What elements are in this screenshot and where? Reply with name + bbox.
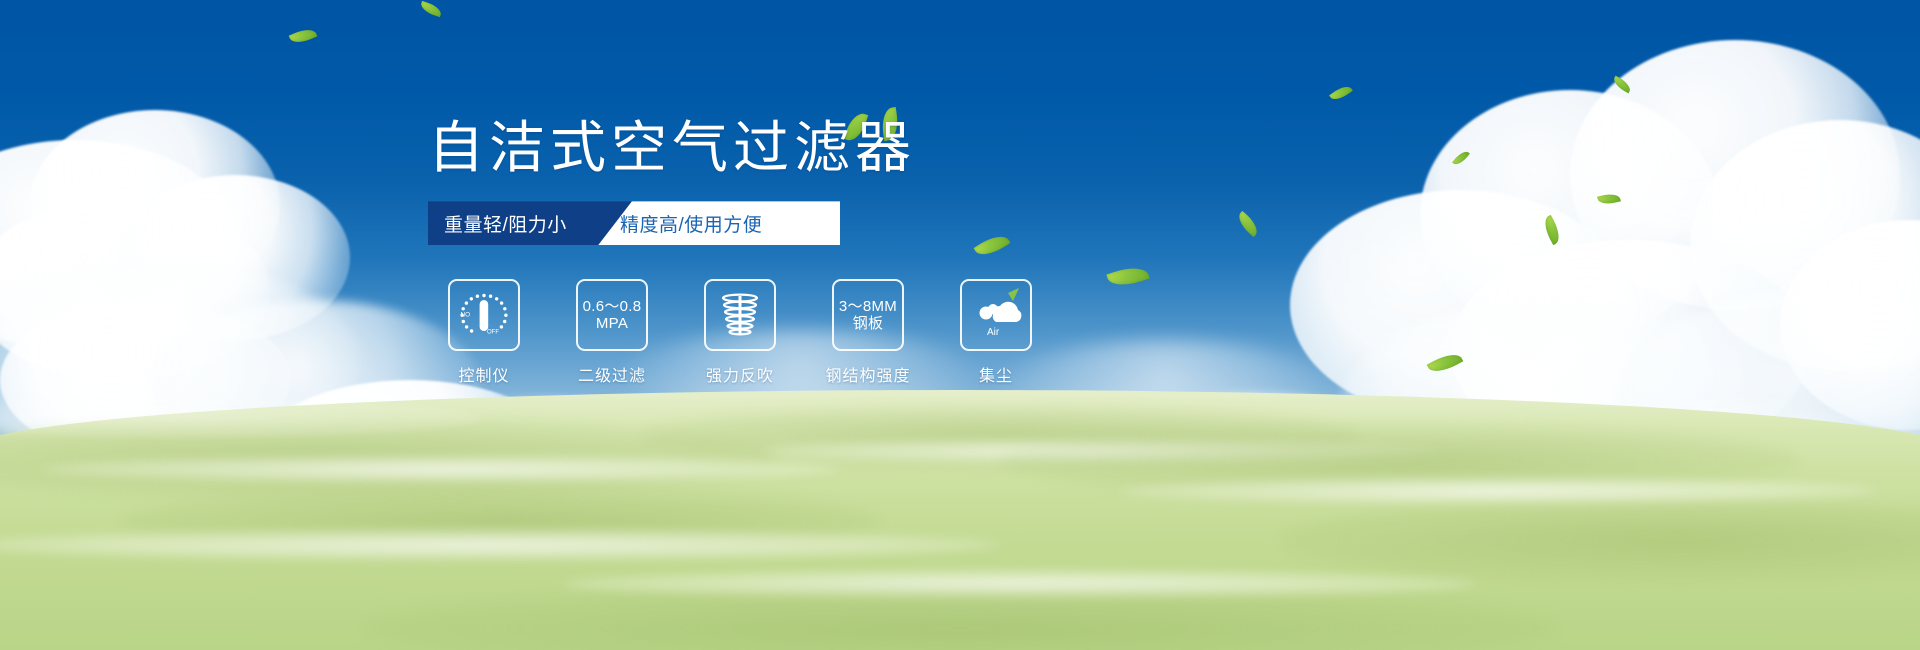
- feature-icon-box: 3〜8MM 钢板: [832, 279, 904, 351]
- tag-label: 精度高/使用方便: [620, 210, 762, 237]
- air-label: Air: [987, 327, 1000, 338]
- feature-icon-box: 0.6〜0.8 MPA: [576, 279, 648, 351]
- grass-shading: [1279, 500, 1920, 580]
- page-title: 自洁式空气过滤器: [428, 118, 1128, 177]
- hero-banner: 自洁式空气过滤器 重量轻/阻力小 精度高/使用方便: [0, 0, 1920, 650]
- feature-item-control[interactable]: NO OFF 控制仪: [432, 279, 536, 386]
- blowback-coil-icon: [710, 285, 770, 345]
- leaf-accent-icon: [1008, 288, 1019, 301]
- banner-content: 自洁式空气过滤器 重量轻/阻力小 精度高/使用方便: [428, 118, 1128, 386]
- feature-label: 二级过滤: [560, 362, 664, 386]
- feature-icon-box: NO OFF: [448, 279, 520, 351]
- air-cloud-icon: Air: [966, 285, 1026, 345]
- feature-item-dust[interactable]: Air 集尘: [944, 279, 1048, 386]
- pressure-line-2: MPA: [583, 315, 642, 333]
- grass-shading: [361, 588, 1559, 650]
- feature-label: 钢结构强度: [816, 362, 920, 386]
- feature-item-steel[interactable]: 3〜8MM 钢板 钢结构强度: [816, 279, 920, 386]
- steel-line-1: 3〜8MM: [839, 298, 897, 316]
- grass-highlight: [0, 530, 1000, 560]
- tag-precision-convenience[interactable]: 精度高/使用方便: [598, 201, 840, 245]
- control-dial-icon: NO OFF: [454, 285, 514, 345]
- grass-highlight: [41, 456, 840, 482]
- feature-icon-box: [704, 279, 776, 351]
- feature-list: NO OFF 控制仪 0.6〜0.8 MPA 二级过滤: [432, 279, 1128, 386]
- tag-label: 重量轻/阻力小: [444, 210, 567, 237]
- dial-on-label: NO: [461, 312, 471, 319]
- feature-label: 控制仪: [432, 362, 536, 386]
- feature-item-blowback[interactable]: 强力反吹: [688, 279, 792, 386]
- steel-line-2: 钢板: [839, 315, 897, 333]
- tag-bar: 重量轻/阻力小 精度高/使用方便: [428, 201, 818, 245]
- feature-label: 集尘: [944, 362, 1048, 386]
- grass-field: [0, 390, 1920, 650]
- steel-plate-text-icon: 3〜8MM 钢板: [839, 298, 897, 333]
- feature-item-filtration[interactable]: 0.6〜0.8 MPA 二级过滤: [560, 279, 664, 386]
- feature-icon-box: Air: [960, 279, 1032, 351]
- pressure-line-1: 0.6〜0.8: [583, 298, 642, 316]
- dial-off-label: OFF: [487, 330, 499, 336]
- feature-label: 强力反吹: [688, 362, 792, 386]
- pressure-text-icon: 0.6〜0.8 MPA: [583, 298, 642, 333]
